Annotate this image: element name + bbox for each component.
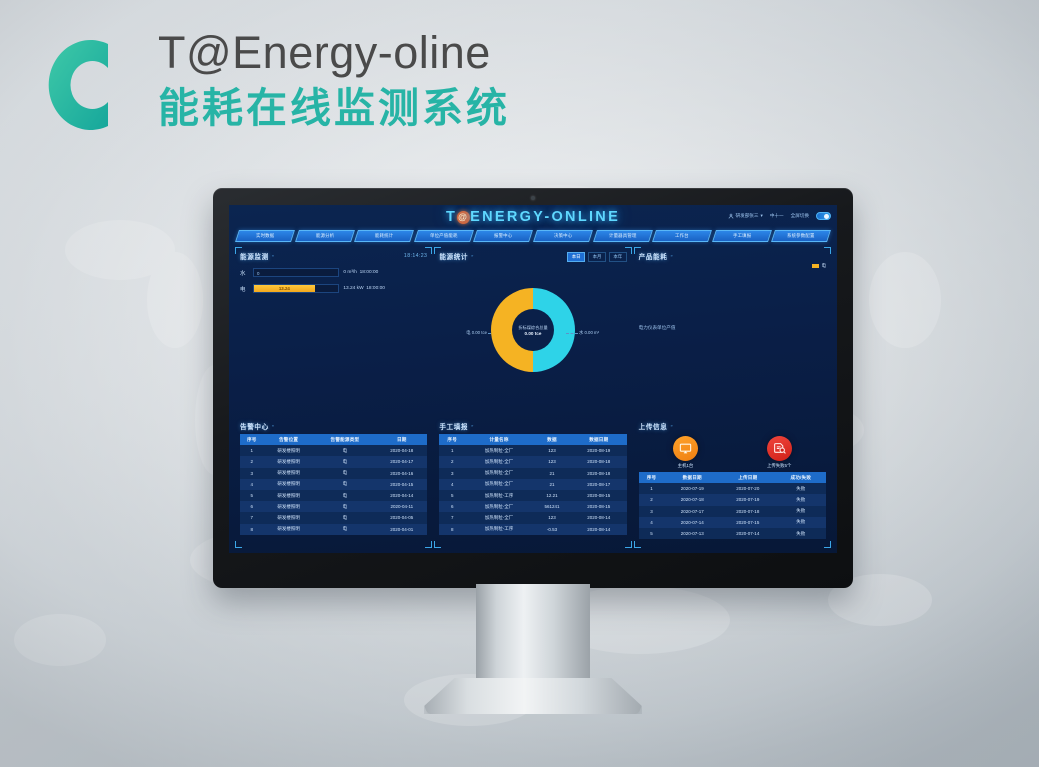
upload-stat-failed[interactable]: 上传失败5个 xyxy=(767,436,792,469)
cell-2: 21 xyxy=(533,468,571,479)
cell-0: 7 xyxy=(240,512,264,523)
cell-3: 失败 xyxy=(776,494,826,505)
document-search-icon xyxy=(767,436,792,461)
table-row[interactable]: 4研发楼照明电2020-04-15 xyxy=(240,479,427,490)
cell-1: 研发楼照明 xyxy=(264,512,314,523)
cell-3: 2020-08-17 xyxy=(571,479,627,490)
cell-2: 电 xyxy=(314,456,377,467)
cell-0: 4 xyxy=(439,479,465,490)
panel-title: 上传信息 xyxy=(639,421,668,431)
energy-bar-electricity: 13.24 xyxy=(253,284,339,293)
nav-label-2: 能耗统计 xyxy=(375,233,393,239)
nav-label-4: 报警中心 xyxy=(494,233,512,239)
manual-entry-table: 序号计量名称数据数据日期 1加热制粒-全厂1232020-08-192加热制粒-… xyxy=(439,434,626,535)
upload-stat-host[interactable]: 主机1台 xyxy=(673,436,698,469)
corner-tr xyxy=(625,247,632,254)
cell-3: 2020-08-14 xyxy=(571,524,627,535)
cell-0: 2 xyxy=(439,456,465,467)
energy-row-electricity: 电 13.24 13.24 kW 18:00:00 xyxy=(240,284,427,293)
corner-bl xyxy=(434,541,441,548)
energy-bar-fill: 13.24 xyxy=(254,285,315,292)
cell-3: 失败 xyxy=(776,483,826,494)
header-item-2[interactable]: 中十一 xyxy=(770,213,784,219)
cell-2: 电 xyxy=(314,468,377,479)
tab-month[interactable]: 本月 xyxy=(588,252,606,262)
cell-1: 加热制粒-全厂 xyxy=(465,501,533,512)
nav-label-6: 计量器具管理 xyxy=(609,233,637,239)
cell-2: 电 xyxy=(314,512,377,523)
monitor-stand-base xyxy=(424,678,642,714)
cell-2: 电 xyxy=(314,479,377,490)
more-icon[interactable]: » xyxy=(471,253,473,258)
nav-item-2[interactable]: 能耗统计 xyxy=(354,230,413,242)
cell-3: 2020-08-18 xyxy=(571,468,627,479)
column-header-1: 数据日期 xyxy=(664,472,720,483)
cell-3: 失败 xyxy=(776,528,826,539)
cell-0: 4 xyxy=(639,517,665,528)
more-icon[interactable]: » xyxy=(272,423,274,428)
cell-1: 加热制粒-工序 xyxy=(465,524,533,535)
nav-item-1[interactable]: 能源分析 xyxy=(295,230,354,242)
nav-item-3[interactable]: 单位产值能耗 xyxy=(414,230,473,242)
table-row[interactable]: 42020-07-142020-07-15失败 xyxy=(639,517,826,528)
nav-item-5[interactable]: 决策中心 xyxy=(533,230,592,242)
dashboard-title: T@ENERGY-ONLINE xyxy=(446,209,620,225)
column-header-0: 序号 xyxy=(240,434,264,445)
table-header-row: 序号数据日期上传日期成功/失败 xyxy=(639,472,826,483)
cell-2: 12.21 xyxy=(533,490,571,501)
cell-1: 加热制粒-全厂 xyxy=(465,445,533,456)
cell-2: 2020-07-19 xyxy=(720,494,776,505)
legend-swatch-icon xyxy=(812,264,819,268)
brand-title-cn: 能耗在线监测系统 xyxy=(158,80,510,136)
cell-2: 123 xyxy=(533,456,571,467)
cell-1: 加热制粒-全厂 xyxy=(465,456,533,467)
legend-label: 电 xyxy=(822,263,826,269)
panel-product-energy: 产品能耗 » 电 电力仪表单位产值 xyxy=(633,246,832,416)
cell-0: 3 xyxy=(639,506,665,517)
nav-label-5: 决策中心 xyxy=(554,233,572,239)
cell-0: 5 xyxy=(639,528,665,539)
panel-upload-info: 上传信息 » 主机1台 xyxy=(633,416,832,549)
cell-2: 电 xyxy=(314,490,377,501)
table-row[interactable]: 1加热制粒-全厂1232020-08-19 xyxy=(439,445,626,456)
more-icon[interactable]: » xyxy=(471,423,473,428)
cell-2: 21 xyxy=(533,479,571,490)
cell-2: 561241 xyxy=(533,501,571,512)
nav-item-0[interactable]: 实时数据 xyxy=(235,230,294,242)
column-header-1: 告警位置 xyxy=(264,434,314,445)
energy-value-electricity: 13.24 xyxy=(279,286,290,291)
table-row[interactable]: 4加热制粒-全厂212020-08-17 xyxy=(439,479,626,490)
panel-header: 告警中心 » xyxy=(240,420,427,431)
dashboard-header: T@ENERGY-ONLINE 研发部张三 ▾ 中十一 全屏切换 xyxy=(229,205,837,228)
column-header-2: 上传日期 xyxy=(720,472,776,483)
brand-block: T@Energy-oline 能耗在线监测系统 xyxy=(46,22,606,152)
cell-2: 2020-07-15 xyxy=(720,517,776,528)
table-row[interactable]: 12020-07-192020-07-20失败 xyxy=(639,483,826,494)
cell-3: 2020-04-11 xyxy=(376,501,427,512)
panel-energy-stats: 能源统计 » 本日 本月 本年 电 0.00 tce 折标煤综合总量 0 xyxy=(433,246,632,416)
table-row[interactable]: 2加热制粒-全厂1232020-08-18 xyxy=(439,456,626,467)
cell-2: 电 xyxy=(314,501,377,512)
alarm-table-body: 1研发楼照明电2020-04-182研发楼照明电2020-04-173研发楼照明… xyxy=(240,445,427,535)
cell-2: 123 xyxy=(533,445,571,456)
cell-0: 3 xyxy=(240,468,264,479)
user-icon xyxy=(728,213,734,219)
cell-0: 6 xyxy=(439,501,465,512)
panel-title: 告警中心 xyxy=(240,421,269,431)
column-header-0: 序号 xyxy=(439,434,465,445)
cell-1: 加热制粒-工序 xyxy=(465,490,533,501)
table-row[interactable]: 8加热制粒-工序-0.532020-08-14 xyxy=(439,524,626,535)
panel-title: 产品能耗 xyxy=(639,251,668,261)
cell-1: 研发楼照明 xyxy=(264,479,314,490)
cell-2: 2020-07-14 xyxy=(720,528,776,539)
cell-0: 1 xyxy=(240,445,264,456)
cell-1: 加热制粒-全厂 xyxy=(465,512,533,523)
cell-0: 7 xyxy=(439,512,465,523)
cell-1: 研发楼照明 xyxy=(264,501,314,512)
column-header-3: 成功/失败 xyxy=(776,472,826,483)
energy-time-electricity: 18:00:00 xyxy=(366,286,385,291)
table-header-row: 序号告警位置告警能源类型日期 xyxy=(240,434,427,445)
main-nav: 实时数据 能源分析 能耗统计 单位产值能耗 报警中心 决策中心 计量器具管理 工… xyxy=(229,228,837,243)
cell-0: 1 xyxy=(639,483,665,494)
column-header-1: 计量名称 xyxy=(465,434,533,445)
panel-title: 能源统计 xyxy=(439,251,468,261)
table-row[interactable]: 8研发楼照明电2020-04-01 xyxy=(240,524,427,535)
tab-day[interactable]: 本日 xyxy=(567,252,585,262)
cell-3: 2020-04-05 xyxy=(376,512,427,523)
cell-1: 2020-07-14 xyxy=(664,517,720,528)
panel-header: 上传信息 » xyxy=(639,420,826,431)
upload-stat-host-label: 主机1台 xyxy=(673,463,698,469)
table-row[interactable]: 7研发楼照明电2020-04-05 xyxy=(240,512,427,523)
brand-title-en: T@Energy-oline xyxy=(158,22,510,84)
energy-unit-electricity: 13.24 kW xyxy=(343,286,363,291)
header-item-3[interactable]: 全屏切换 xyxy=(791,213,809,219)
nav-label-0: 实时数据 xyxy=(256,233,274,239)
energy-label-electricity: 电 xyxy=(240,285,249,293)
table-row[interactable]: 22020-07-182020-07-19失败 xyxy=(639,494,826,505)
at-symbol-icon: @ xyxy=(457,211,470,224)
table-row[interactable]: 5研发楼照明电2020-04-14 xyxy=(240,490,427,501)
cell-3: 2020-08-15 xyxy=(571,501,627,512)
product-note: 电力仪表单位产值 xyxy=(639,325,826,331)
panel-title: 手工填报 xyxy=(439,421,468,431)
cell-0: 5 xyxy=(439,490,465,501)
cell-2: -0.53 xyxy=(533,524,571,535)
energy-meta-water: 0 m³/h 18:00:00 xyxy=(343,270,427,275)
corner-tl xyxy=(235,247,242,254)
dashboard-title-left: T xyxy=(446,209,457,225)
energy-value-water: 0 xyxy=(257,271,259,276)
fullscreen-toggle[interactable] xyxy=(816,212,831,220)
manual-entry-table-body: 1加热制粒-全厂1232020-08-192加热制粒-全厂1232020-08-… xyxy=(439,445,626,535)
cell-1: 研发楼照明 xyxy=(264,524,314,535)
cell-0: 6 xyxy=(240,501,264,512)
cell-2: 123 xyxy=(533,512,571,523)
donut-label-right: 水 0.00 m³ xyxy=(579,330,599,336)
table-row[interactable]: 7加热制粒-全厂1232020-08-14 xyxy=(439,512,626,523)
dashboard-title-right: ENERGY-ONLINE xyxy=(470,209,620,225)
cell-3: 2020-04-01 xyxy=(376,524,427,535)
cell-3: 失败 xyxy=(776,517,826,528)
cell-3: 2020-04-15 xyxy=(376,479,427,490)
panel-header: 手工填报 » xyxy=(439,420,626,431)
cell-2: 2020-07-20 xyxy=(720,483,776,494)
column-header-0: 序号 xyxy=(639,472,665,483)
nav-item-7[interactable]: 工作台 xyxy=(652,230,711,242)
cell-3: 2020-04-17 xyxy=(376,456,427,467)
table-row[interactable]: 1研发楼照明电2020-04-18 xyxy=(240,445,427,456)
clock-label: 18:14:23 xyxy=(404,253,427,259)
cell-2: 电 xyxy=(314,445,377,456)
cell-0: 8 xyxy=(439,524,465,535)
corner-bl xyxy=(634,541,641,548)
column-header-3: 数据日期 xyxy=(571,434,627,445)
panel-energy-monitor: 能源监测 » 18:14:23 水 0 0 m³/h 18:00:00 xyxy=(234,246,433,416)
cell-1: 加热制粒-全厂 xyxy=(465,468,533,479)
monitor: T@ENERGY-ONLINE 研发部张三 ▾ 中十一 全屏切换 xyxy=(213,188,853,588)
cell-3: 2020-04-16 xyxy=(376,468,427,479)
table-row[interactable]: 5加热制粒-工序12.212020-08-15 xyxy=(439,490,626,501)
cell-1: 2020-07-19 xyxy=(664,483,720,494)
nav-label-7: 工作台 xyxy=(675,233,689,239)
cell-1: 研发楼照明 xyxy=(264,490,314,501)
cell-3: 2020-08-15 xyxy=(571,490,627,501)
cell-3: 2020-08-18 xyxy=(571,456,627,467)
panel-grid: 能源监测 » 18:14:23 水 0 0 m³/h 18:00:00 xyxy=(229,243,837,553)
nav-label-8: 手工填报 xyxy=(732,233,750,239)
upload-table-body: 12020-07-192020-07-20失败22020-07-182020-0… xyxy=(639,483,826,539)
energy-meta-electricity: 13.24 kW 18:00:00 xyxy=(343,286,427,291)
upload-stat-failed-label: 上传失败5个 xyxy=(767,463,792,469)
cell-3: 失败 xyxy=(776,506,826,517)
cell-2: 电 xyxy=(314,524,377,535)
cell-1: 2020-07-13 xyxy=(664,528,720,539)
table-row[interactable]: 32020-07-172020-07-18失败 xyxy=(639,506,826,517)
cell-3: 2020-08-14 xyxy=(571,512,627,523)
corner-bl xyxy=(235,541,242,548)
panel-header: 产品能耗 » xyxy=(639,250,826,261)
energy-label-water: 水 xyxy=(240,269,249,277)
nav-label-3: 单位产值能耗 xyxy=(430,233,458,239)
cell-2: 2020-07-18 xyxy=(720,506,776,517)
donut-chart: 电 0.00 tce 折标煤综合总量 0.00 tce 水 0.00 m³ xyxy=(439,270,626,390)
alarm-table: 序号告警位置告警能源类型日期 1研发楼照明电2020-04-182研发楼照明电2… xyxy=(240,434,427,535)
cell-0: 5 xyxy=(240,490,264,501)
cell-0: 2 xyxy=(639,494,665,505)
energy-time-water: 18:00:00 xyxy=(360,270,379,275)
column-header-2: 数据 xyxy=(533,434,571,445)
product-legend: 电 xyxy=(639,263,826,269)
corner-br xyxy=(824,541,831,548)
monitor-stand-neck xyxy=(476,584,590,692)
user-menu[interactable]: 研发部张三 ▾ xyxy=(728,213,763,219)
monitor-icon xyxy=(673,436,698,461)
corner-br xyxy=(625,541,632,548)
donut-label-left: 电 0.00 tce xyxy=(466,330,487,336)
cell-1: 2020-07-17 xyxy=(664,506,720,517)
cell-0: 3 xyxy=(439,468,465,479)
nav-item-9[interactable]: 系统参数配置 xyxy=(771,230,830,242)
cell-1: 研发楼照明 xyxy=(264,445,314,456)
column-header-3: 日期 xyxy=(376,434,427,445)
corner-tl xyxy=(434,247,441,254)
panel-header: 能源监测 » 18:14:23 xyxy=(240,250,427,261)
energy-bar-water: 0 xyxy=(253,268,339,277)
nav-label-1: 能源分析 xyxy=(315,233,333,239)
cell-0: 8 xyxy=(240,524,264,535)
more-icon[interactable]: » xyxy=(670,253,672,258)
corner-br xyxy=(425,541,432,548)
table-row[interactable]: 52020-07-132020-07-14失败 xyxy=(639,528,826,539)
cell-3: 2020-04-18 xyxy=(376,445,427,456)
nav-item-8[interactable]: 手工填报 xyxy=(712,230,771,242)
monitor-screen: T@ENERGY-ONLINE 研发部张三 ▾ 中十一 全屏切换 xyxy=(229,205,837,553)
panel-title: 能源监测 xyxy=(240,251,269,261)
header-right-controls: 研发部张三 ▾ 中十一 全屏切换 xyxy=(728,212,831,220)
user-name: 研发部张三 xyxy=(736,213,759,219)
energy-row-water: 水 0 0 m³/h 18:00:00 xyxy=(240,268,427,277)
cell-0: 4 xyxy=(240,479,264,490)
donut-center-line2: 0.00 tce xyxy=(525,331,542,336)
cell-1: 研发楼照明 xyxy=(264,468,314,479)
donut-ring: 折标煤综合总量 0.00 tce xyxy=(491,288,575,372)
cell-1: 2020-07-18 xyxy=(664,494,720,505)
nav-item-6[interactable]: 计量器具管理 xyxy=(593,230,652,242)
cell-0: 1 xyxy=(439,445,465,456)
panel-manual-entry: 手工填报 » 序号计量名称数据数据日期 1加热制粒-全厂1232020-08-1… xyxy=(433,416,632,549)
table-row[interactable]: 2研发楼照明电2020-04-17 xyxy=(240,456,427,467)
table-row[interactable]: 3研发楼照明电2020-04-16 xyxy=(240,468,427,479)
webcam-icon xyxy=(531,196,535,200)
green-c-logo-icon xyxy=(46,36,126,134)
table-header-row: 序号计量名称数据数据日期 xyxy=(439,434,626,445)
column-header-2: 告警能源类型 xyxy=(314,434,377,445)
nav-label-9: 系统参数配置 xyxy=(787,233,815,239)
table-row[interactable]: 3加热制粒-全厂212020-08-18 xyxy=(439,468,626,479)
donut-center-text: 折标煤综合总量 0.00 tce xyxy=(491,288,575,372)
cell-3: 2020-04-14 xyxy=(376,490,427,501)
upload-stats: 主机1台 上传失败5个 xyxy=(639,436,826,469)
cell-3: 2020-08-19 xyxy=(571,445,627,456)
cell-0: 2 xyxy=(240,456,264,467)
more-icon[interactable]: » xyxy=(272,253,274,258)
energy-unit-water: 0 m³/h xyxy=(343,270,357,275)
nav-item-4[interactable]: 报警中心 xyxy=(473,230,532,242)
table-row[interactable]: 6研发楼照明电2020-04-11 xyxy=(240,501,427,512)
cell-1: 研发楼照明 xyxy=(264,456,314,467)
table-row[interactable]: 6加热制粒-全厂5612412020-08-15 xyxy=(439,501,626,512)
cell-1: 加热制粒-全厂 xyxy=(465,479,533,490)
upload-table: 序号数据日期上传日期成功/失败 12020-07-192020-07-20失败2… xyxy=(639,472,826,539)
corner-tl xyxy=(634,247,641,254)
corner-tr xyxy=(824,247,831,254)
more-icon[interactable]: » xyxy=(670,423,672,428)
corner-tr xyxy=(425,247,432,254)
dashboard: T@ENERGY-ONLINE 研发部张三 ▾ 中十一 全屏切换 xyxy=(229,205,837,553)
chevron-down-icon: ▾ xyxy=(761,213,763,219)
panel-alarm-center: 告警中心 » 序号告警位置告警能源类型日期 1研发楼照明电2020-04-182… xyxy=(234,416,433,549)
